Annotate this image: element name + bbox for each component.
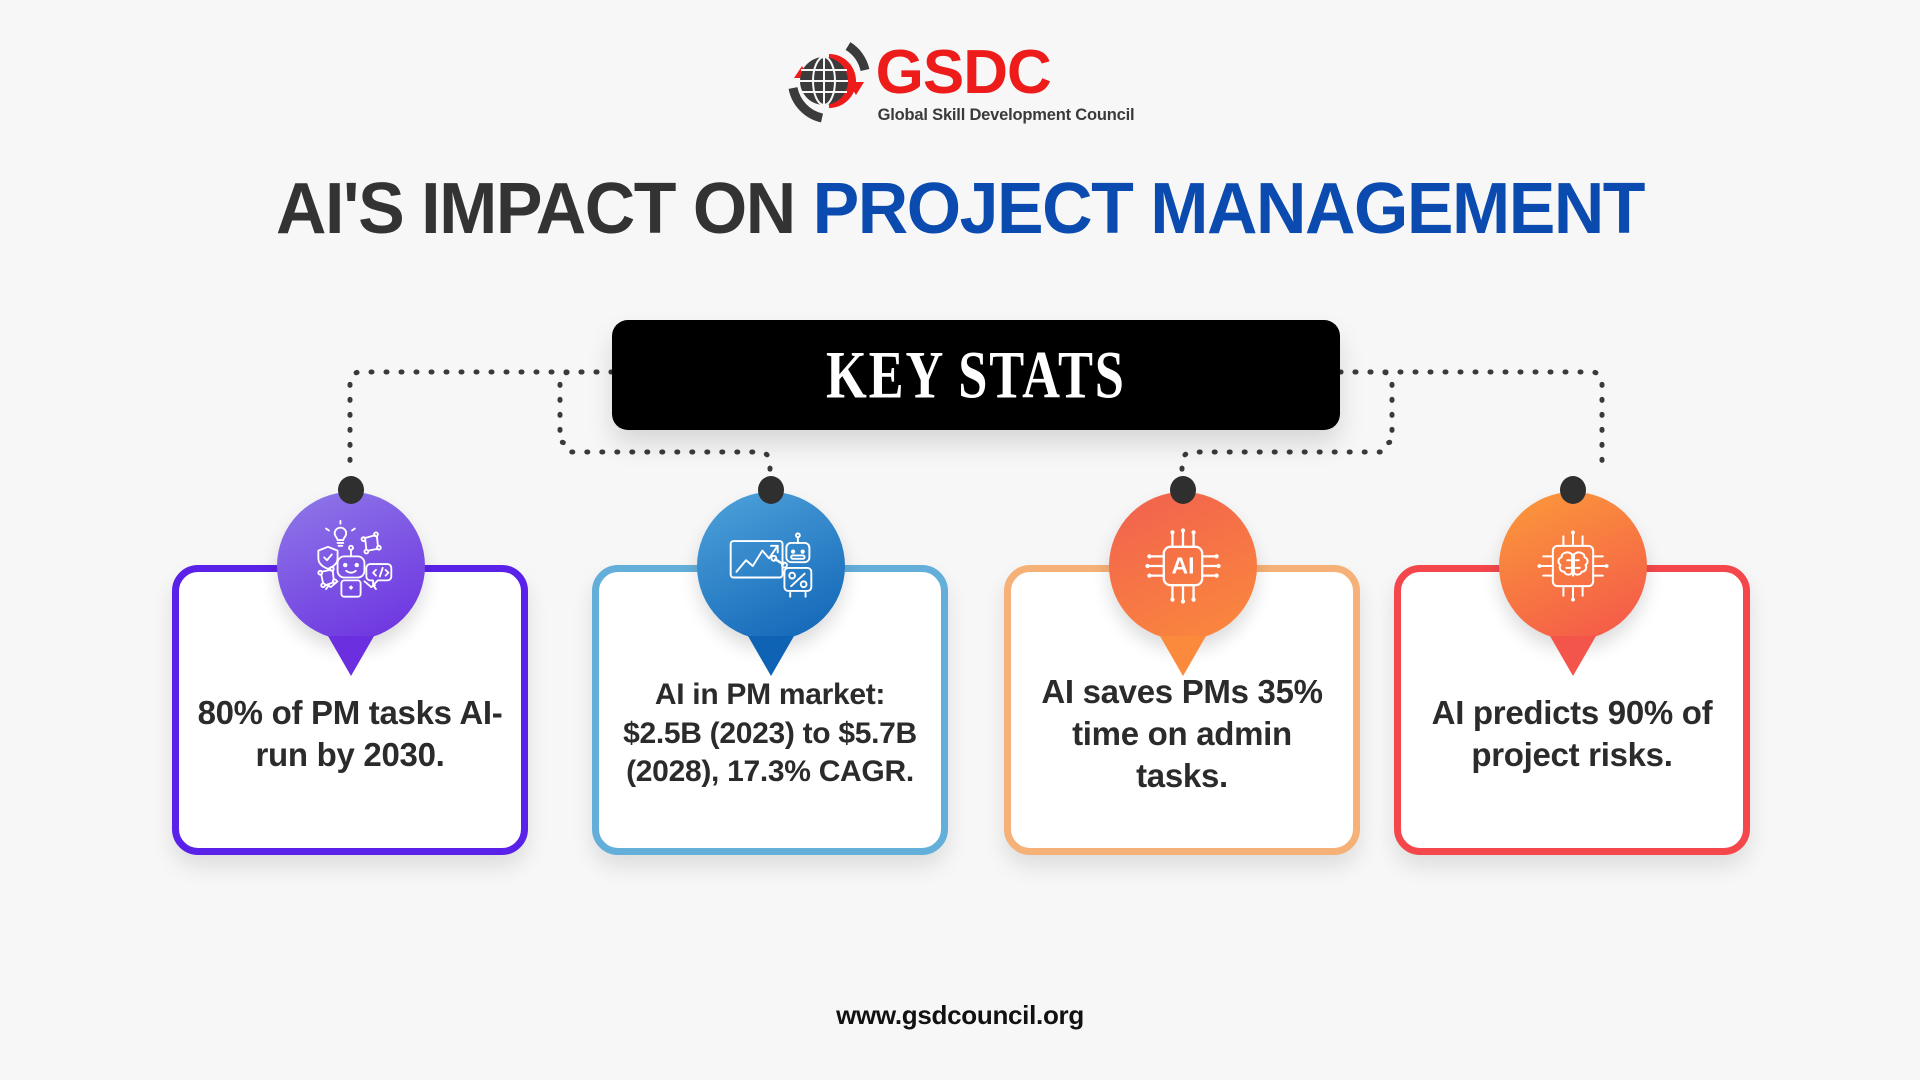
bubble-tail-2: [748, 636, 794, 676]
connector-pin-3: [1170, 476, 1196, 504]
stat-card-4-icon-bubble: [1499, 492, 1647, 640]
stat-card-2-text: AI in PM market: $2.5B (2023) to $5.7B (…: [599, 676, 941, 791]
connector-pin-4: [1560, 476, 1586, 504]
key-stats-label: KEY STATS: [826, 337, 1126, 414]
ai-market-chart-robot-icon: [723, 518, 819, 614]
bubble-tail-3: [1160, 636, 1206, 676]
stat-card-4-text: AI predicts 90% of project risks.: [1401, 692, 1743, 776]
bubble-tail-1: [328, 636, 374, 676]
stat-card-1-icon-bubble: [277, 492, 425, 640]
stat-card-2-icon-bubble: [697, 492, 845, 640]
footer-url[interactable]: www.gsdcouncil.org: [0, 1000, 1920, 1031]
ai-robot-ideas-icon: [303, 518, 399, 614]
connector-pin-1: [338, 476, 364, 504]
stat-card-3-icon-bubble: AI: [1109, 492, 1257, 640]
connector-pin-2: [758, 476, 784, 504]
stat-card-1-text: 80% of PM tasks AI-run by 2030.: [179, 692, 521, 776]
ai-brain-chip-icon: [1525, 518, 1621, 614]
bubble-tail-4: [1550, 636, 1596, 676]
stat-card-3-text: AI saves PMs 35% time on admin tasks.: [1011, 671, 1353, 798]
key-stats-banner: KEY STATS: [612, 320, 1340, 430]
ai-chip-icon: AI: [1135, 518, 1231, 614]
svg-text:AI: AI: [1171, 553, 1194, 579]
stat-cards-container: 80% of PM tasks AI-run by 2030.: [0, 0, 1920, 1080]
